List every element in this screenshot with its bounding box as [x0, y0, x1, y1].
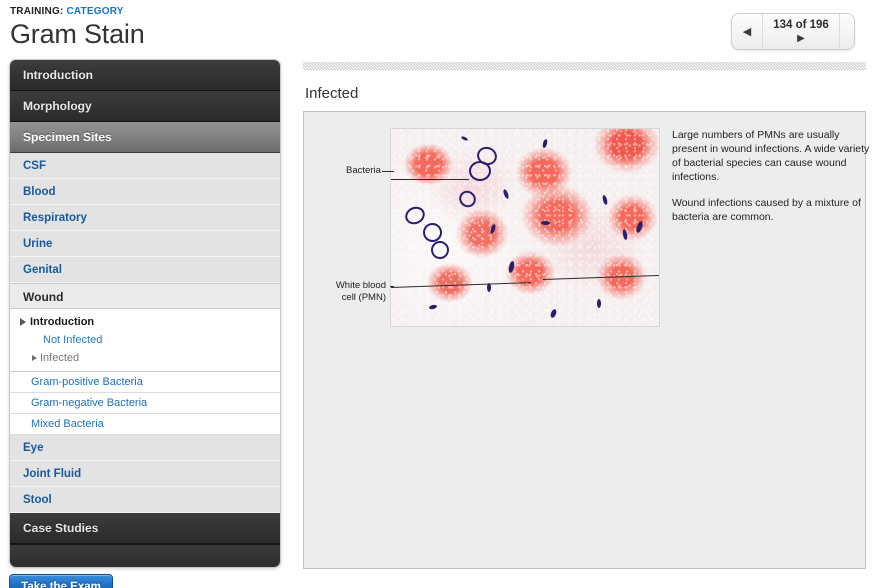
wound-bacteria-links: Gram-positive Bacteria Gram-negative Bac… [10, 372, 280, 435]
triangle-right-icon [20, 318, 26, 326]
sidebar-item-stool[interactable]: Stool [10, 487, 280, 513]
pagination-control[interactable]: ◀ 134 of 196 ▶ [731, 13, 855, 50]
bacteria-rod-icon [541, 221, 550, 225]
label-line-1: White blood [328, 280, 386, 292]
breadcrumb-prefix: TRAINING: [10, 6, 63, 17]
sidebar-section-wound[interactable]: Wound [10, 283, 280, 309]
sidebar-item-blood[interactable]: Blood [10, 179, 280, 205]
label-bacteria: Bacteria [346, 165, 381, 177]
triangle-right-icon [32, 355, 37, 361]
pager-tail [840, 14, 854, 49]
page-header: TRAINING: CATEGORY Gram Stain [10, 6, 710, 50]
bacteria-leader-line-inner [391, 179, 469, 180]
triangle-right-icon[interactable]: ▶ [797, 34, 805, 44]
content-area: Infected [303, 62, 866, 569]
label-line-2: cell (PMN) [328, 292, 386, 304]
sidebar-item-gram-positive-bacteria[interactable]: Gram-positive Bacteria [10, 372, 280, 393]
bacteria-leader-line [382, 171, 394, 172]
triangle-left-icon: ◀ [743, 25, 751, 38]
course-navigation-sidebar[interactable]: Introduction Morphology Specimen Sites C… [9, 59, 281, 568]
sidebar-item-infected[interactable]: Infected [10, 349, 280, 367]
sidebar-item-gram-negative-bacteria[interactable]: Gram-negative Bacteria [10, 393, 280, 414]
breadcrumb-category-link[interactable]: CATEGORY [66, 6, 123, 17]
sidebar-section-introduction[interactable]: Introduction [10, 60, 280, 91]
sidebar-item-label: Introduction [30, 313, 94, 331]
sidebar-item-label: Infected [40, 349, 79, 367]
sidebar-item-joint-fluid[interactable]: Joint Fluid [10, 461, 280, 487]
page-title: Gram Stain [10, 19, 710, 50]
label-white-blood-cell: White blood cell (PMN) [328, 280, 386, 304]
sidebar-section-morphology[interactable]: Morphology [10, 91, 280, 122]
sidebar-item-wound-introduction[interactable]: Introduction [10, 313, 280, 331]
training-module-page: TRAINING: CATEGORY Gram Stain ◀ 134 of 1… [0, 0, 877, 588]
sidebar-section-case-studies[interactable]: Case Studies [10, 513, 280, 544]
sidebar-item-not-infected[interactable]: Not Infected [10, 331, 280, 349]
sidebar-item-genital[interactable]: Genital [10, 257, 280, 283]
page-count-label: 134 of 196 [773, 19, 829, 32]
sidebar-item-urine[interactable]: Urine [10, 231, 280, 257]
content-panel: Bacteria White blood cell (PMN) Large nu… [303, 111, 866, 569]
take-the-exam-button[interactable]: Take the Exam [9, 574, 113, 588]
wound-subitems: Introduction Not Infected Infected [10, 309, 280, 372]
sidebar-footer-strip [10, 544, 280, 567]
sidebar-item-label: Not Infected [43, 331, 102, 349]
bacteria-chain-icon [469, 161, 491, 181]
hatched-divider [303, 62, 866, 70]
sidebar-section-specimen-sites[interactable]: Specimen Sites [10, 122, 280, 153]
pmn-leader-line [390, 286, 394, 287]
content-title: Infected [305, 85, 866, 102]
page-indicator: 134 of 196 ▶ [763, 14, 840, 49]
bacteria-rod-icon [597, 299, 601, 308]
prev-page-button[interactable]: ◀ [732, 14, 763, 49]
description-text: Large numbers of PMNs are usually presen… [672, 128, 872, 236]
description-paragraph-1: Large numbers of PMNs are usually presen… [672, 128, 872, 184]
sidebar-item-mixed-bacteria[interactable]: Mixed Bacteria [10, 414, 280, 435]
sidebar-item-respiratory[interactable]: Respiratory [10, 205, 280, 231]
breadcrumb: TRAINING: CATEGORY [10, 6, 710, 17]
sidebar-item-csf[interactable]: CSF [10, 153, 280, 179]
sidebar-item-eye[interactable]: Eye [10, 435, 280, 461]
bacteria-chain-icon [431, 241, 449, 259]
description-paragraph-2: Wound infections caused by a mixture of … [672, 196, 872, 224]
gram-stain-micrograph [390, 128, 660, 327]
